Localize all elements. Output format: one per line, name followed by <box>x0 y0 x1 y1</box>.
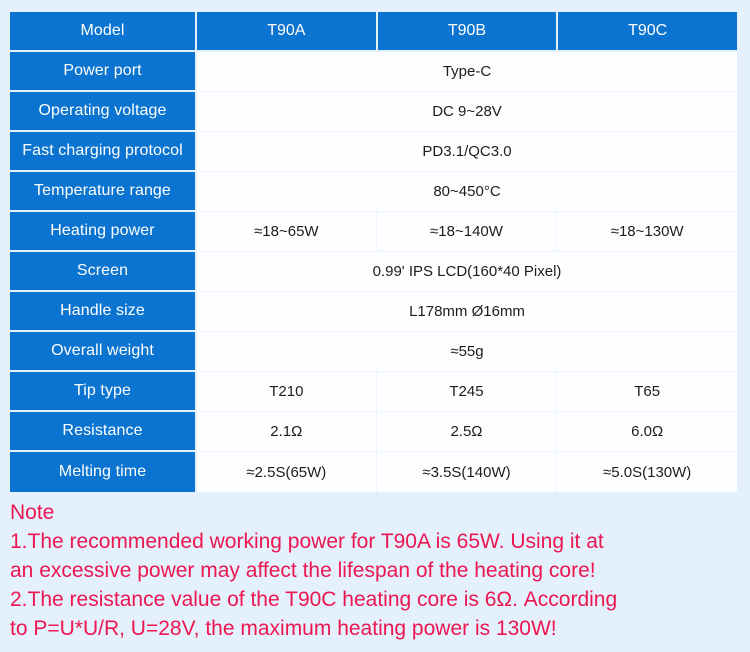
note-title: Note <box>10 498 742 527</box>
row-value-cell: 2.5Ω <box>376 412 557 452</box>
row-value-cell: ≈2.5S(65W) <box>195 452 376 492</box>
row-label: Overall weight <box>10 332 195 372</box>
table-row: Melting time≈2.5S(65W)≈3.5S(140W)≈5.0S(1… <box>10 452 737 492</box>
row-value-cell: 6.0Ω <box>556 412 737 452</box>
row-value-merged: 80~450°C <box>195 172 737 212</box>
row-value-cell: T245 <box>376 372 557 412</box>
note-line: to P=U*U/R, U=28V, the maximum heating p… <box>10 614 742 643</box>
row-value-merged: L178mm Ø16mm <box>195 292 737 332</box>
table-row: Power portType-C <box>10 52 737 92</box>
row-value-merged: PD3.1/QC3.0 <box>195 132 737 172</box>
row-label: Operating voltage <box>10 92 195 132</box>
row-value-cell: T210 <box>195 372 376 412</box>
row-label: Resistance <box>10 412 195 452</box>
row-label: Melting time <box>10 452 195 492</box>
table-row: Fast charging protocolPD3.1/QC3.0 <box>10 132 737 172</box>
table-row: Operating voltageDC 9~28V <box>10 92 737 132</box>
table-row: Resistance2.1Ω2.5Ω6.0Ω <box>10 412 737 452</box>
row-value-merged: Type-C <box>195 52 737 92</box>
row-value-cell: ≈3.5S(140W) <box>376 452 557 492</box>
row-value-cell: 2.1Ω <box>195 412 376 452</box>
note-line: 1.The recommended working power for T90A… <box>10 527 742 556</box>
note-block: Note1.The recommended working power for … <box>10 498 742 643</box>
row-label: Tip type <box>10 372 195 412</box>
table-header-row: ModelT90AT90BT90C <box>10 12 737 52</box>
row-value-merged: 0.99' IPS LCD(160*40 Pixel) <box>195 252 737 292</box>
row-value-cell: T90C <box>556 12 737 52</box>
table-row: Handle sizeL178mm Ø16mm <box>10 292 737 332</box>
row-value-merged: DC 9~28V <box>195 92 737 132</box>
note-line: an excessive power may affect the lifesp… <box>10 556 742 585</box>
row-label: Temperature range <box>10 172 195 212</box>
row-label: Handle size <box>10 292 195 332</box>
table-row: Tip typeT210T245T65 <box>10 372 737 412</box>
row-label: Fast charging protocol <box>10 132 195 172</box>
row-value-cell: T65 <box>556 372 737 412</box>
specification-table: ModelT90AT90BT90CPower portType-COperati… <box>10 12 737 492</box>
row-value-merged: ≈55g <box>195 332 737 372</box>
table-row: Overall weight≈55g <box>10 332 737 372</box>
row-value-cell: ≈18~130W <box>556 212 737 252</box>
row-value-cell: ≈18~140W <box>376 212 557 252</box>
row-label: Screen <box>10 252 195 292</box>
table-row: Heating power≈18~65W≈18~140W≈18~130W <box>10 212 737 252</box>
row-value-cell: ≈5.0S(130W) <box>556 452 737 492</box>
note-line: 2.The resistance value of the T90C heati… <box>10 585 742 614</box>
row-value-cell: T90A <box>195 12 376 52</box>
table-row: Temperature range80~450°C <box>10 172 737 212</box>
row-label: Power port <box>10 52 195 92</box>
row-value-cell: ≈18~65W <box>195 212 376 252</box>
row-label: Model <box>10 12 195 52</box>
row-label: Heating power <box>10 212 195 252</box>
specification-table-body: ModelT90AT90BT90CPower portType-COperati… <box>10 12 737 492</box>
table-row: Screen0.99' IPS LCD(160*40 Pixel) <box>10 252 737 292</box>
row-value-cell: T90B <box>376 12 557 52</box>
spec-sheet-page: ModelT90AT90BT90CPower portType-COperati… <box>0 0 750 652</box>
